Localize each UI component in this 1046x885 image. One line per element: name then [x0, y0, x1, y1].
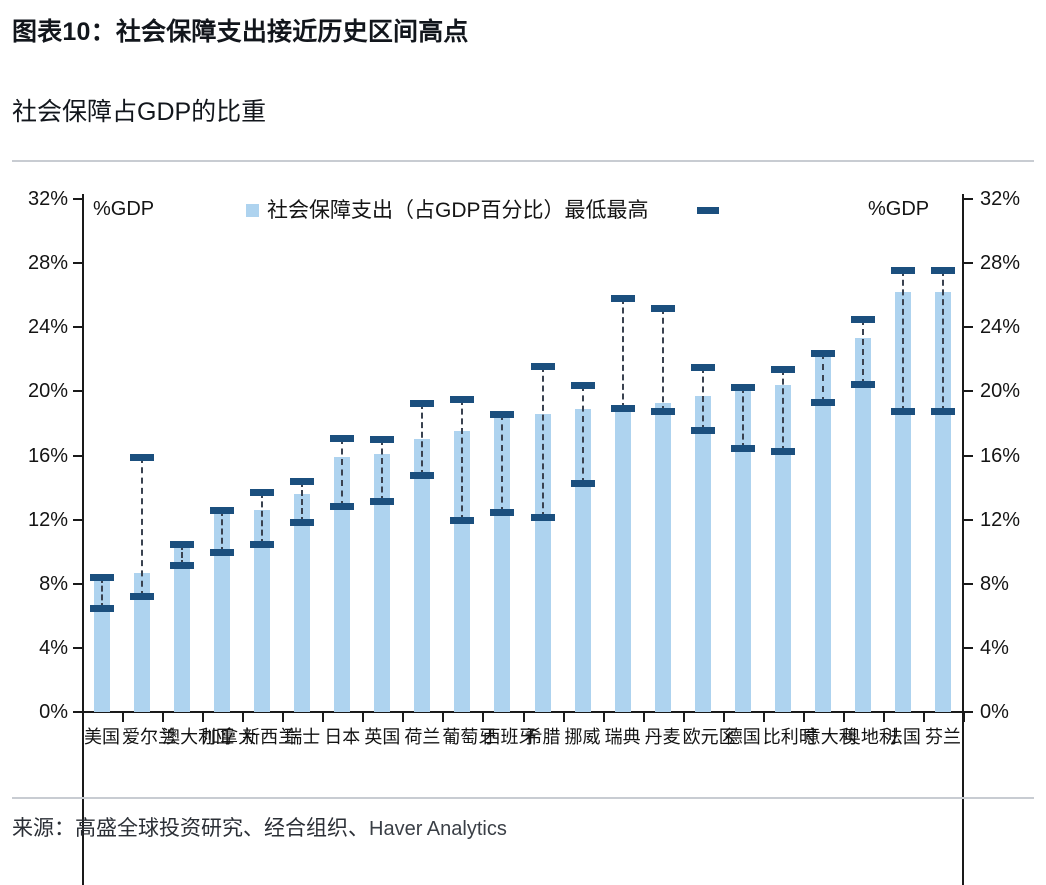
y-tick-l [73, 583, 82, 585]
range-cap-max [290, 478, 314, 485]
range-connector [582, 385, 584, 484]
y-axis-label-r: 20% [980, 381, 1046, 401]
y-axis-label-r: 32% [980, 189, 1046, 209]
range-cap-max [891, 267, 915, 274]
range-cap-max [250, 489, 274, 496]
range-connector [782, 369, 784, 452]
y-tick-l [73, 198, 82, 200]
x-axis-labels: 美国爱尔兰澳大利亚加拿大新西兰瑞士日本英国荷兰葡萄牙西班牙希腊挪威瑞典丹麦欧元区… [82, 728, 964, 758]
y-tick-r [964, 519, 973, 521]
range-connector [221, 510, 223, 553]
source-note: 来源：高盛全球投资研究、经合组织、Haver Analytics [12, 812, 1022, 842]
x-axis-label: 瑞典 [603, 728, 643, 746]
y-tick-r [964, 198, 973, 200]
exhibit-label: 图表10： [12, 18, 116, 46]
range-cap-max [851, 316, 875, 323]
x-axis-label: 荷兰 [402, 728, 442, 746]
x-axis-label: 葡萄牙 [442, 728, 482, 746]
x-tick [643, 713, 645, 722]
y-tick-l [73, 519, 82, 521]
source-provider: Haver Analytics [369, 818, 507, 840]
y-axis-label-r: 24% [980, 317, 1046, 337]
range-marker [341, 438, 343, 507]
x-tick [563, 713, 565, 722]
range-cap-max [410, 400, 434, 407]
y-axis-label-l: 28% [8, 253, 68, 273]
y-axis-label-l: 16% [8, 446, 68, 466]
range-connector [822, 353, 824, 403]
x-axis-label: 欧元区 [683, 728, 723, 746]
x-axis-label: 瑞士 [282, 728, 322, 746]
y-tick-r [964, 711, 973, 713]
range-cap-min [250, 541, 274, 548]
range-cap-max [90, 574, 114, 581]
range-marker [942, 270, 944, 413]
x-tick [162, 713, 164, 722]
range-cap-min [571, 480, 595, 487]
x-axis-label: 希腊 [523, 728, 563, 746]
range-connector [622, 298, 624, 409]
y-axis-label-l: 32% [8, 189, 68, 209]
range-marker [542, 366, 544, 518]
y-tick-r [964, 647, 973, 649]
range-cap-min [931, 408, 955, 415]
range-marker [822, 353, 824, 403]
y-axis-label-l: 0% [8, 702, 68, 722]
range-cap-max [170, 541, 194, 548]
x-axis-label: 德国 [723, 728, 763, 746]
range-cap-min [731, 445, 755, 452]
range-cap-max [731, 384, 755, 391]
range-marker [862, 319, 864, 385]
range-marker [101, 577, 103, 609]
range-connector [542, 366, 544, 518]
y-tick-l [73, 455, 82, 457]
range-marker [501, 414, 503, 513]
range-connector [261, 492, 263, 545]
range-cap-min [811, 399, 835, 406]
range-marker [181, 544, 183, 566]
divider-top [12, 160, 1034, 162]
range-cap-min [851, 381, 875, 388]
y-tick-r [964, 455, 973, 457]
x-tick [402, 713, 404, 722]
chart-canvas: %GDP %GDP 社会保障支出（占GDP百分比）最低最高 32%32%28%2… [0, 168, 1046, 778]
y-axis-label-r: 8% [980, 574, 1046, 594]
x-tick [683, 713, 685, 722]
source-organizations: 高盛全球投资研究、经合组织、 [75, 817, 369, 840]
y-tick-l [73, 326, 82, 328]
range-marker [301, 481, 303, 523]
y-axis-label-l: 24% [8, 317, 68, 337]
y-tick-l [73, 647, 82, 649]
range-cap-max [931, 267, 955, 274]
range-cap-min [130, 593, 154, 600]
range-marker [742, 387, 744, 450]
x-tick [442, 713, 444, 722]
range-cap-max [531, 363, 555, 370]
x-axis-label: 法国 [883, 728, 923, 746]
range-marker [381, 439, 383, 502]
x-tick [482, 713, 484, 722]
range-cap-max [130, 454, 154, 461]
x-tick [723, 713, 725, 722]
range-connector [421, 403, 423, 477]
range-cap-min [90, 605, 114, 612]
y-axis-label-l: 20% [8, 381, 68, 401]
x-tick [202, 713, 204, 722]
plot-area [82, 199, 963, 712]
y-axis-label-r: 4% [980, 638, 1046, 658]
y-tick-l [73, 711, 82, 713]
range-connector [662, 308, 664, 412]
x-axis-label: 西班牙 [482, 728, 522, 746]
x-tick [803, 713, 805, 722]
range-cap-min [891, 408, 915, 415]
divider-bottom [12, 797, 1034, 799]
source-prefix: 来源： [12, 817, 75, 840]
y-tick-r [964, 326, 973, 328]
range-cap-max [611, 295, 635, 302]
range-connector [461, 399, 463, 521]
range-connector [742, 387, 744, 450]
range-marker [141, 457, 143, 596]
x-axis-label: 奥地利 [843, 728, 883, 746]
range-cap-min [450, 517, 474, 524]
x-tick [763, 713, 765, 722]
exhibit-title-text: 社会保障支出接近历史区间高点 [116, 18, 469, 46]
range-marker [421, 403, 423, 477]
range-marker [261, 492, 263, 545]
y-axis-label-l: 8% [8, 574, 68, 594]
x-tick [242, 713, 244, 722]
range-marker [662, 308, 664, 412]
y-tick-r [964, 390, 973, 392]
y-axis-label-l: 12% [8, 510, 68, 530]
range-connector [381, 439, 383, 502]
y-axis-label-r: 12% [980, 510, 1046, 530]
range-cap-max [370, 436, 394, 443]
y-axis-label-l: 4% [8, 638, 68, 658]
range-cap-max [571, 382, 595, 389]
x-axis-label: 比利时 [763, 728, 803, 746]
x-tick [122, 713, 124, 722]
x-tick [843, 713, 845, 722]
page-title: 图表10：社会保障支出接近历史区间高点 [12, 12, 1022, 48]
range-cap-min [691, 427, 715, 434]
range-series [82, 199, 963, 712]
y-tick-r [964, 262, 973, 264]
range-marker [902, 270, 904, 413]
x-axis-label: 挪威 [563, 728, 603, 746]
range-cap-max [771, 366, 795, 373]
range-cap-min [771, 448, 795, 455]
y-tick-l [73, 262, 82, 264]
x-axis-label: 美国 [82, 728, 122, 746]
x-axis-label: 芬兰 [923, 728, 963, 746]
x-tick [603, 713, 605, 722]
x-tick [883, 713, 885, 722]
range-cap-min [370, 498, 394, 505]
range-marker [622, 298, 624, 409]
range-connector [902, 270, 904, 413]
x-axis-label: 爱尔兰 [122, 728, 162, 746]
range-cap-min [210, 549, 234, 556]
x-axis-label: 丹麦 [643, 728, 683, 746]
range-cap-max [450, 396, 474, 403]
range-cap-min [330, 503, 354, 510]
y-axis-label-r: 16% [980, 446, 1046, 466]
range-cap-max [811, 350, 835, 357]
range-cap-min [170, 562, 194, 569]
x-axis-label: 新西兰 [242, 728, 282, 746]
range-marker [221, 510, 223, 553]
range-connector [942, 270, 944, 413]
x-tick [282, 713, 284, 722]
range-cap-max [651, 305, 675, 312]
x-tick [362, 713, 364, 722]
x-tick [82, 713, 84, 722]
y-tick-r [964, 583, 973, 585]
range-cap-max [210, 507, 234, 514]
range-cap-max [330, 435, 354, 442]
y-tick-l [73, 390, 82, 392]
chart-subtitle: 社会保障占GDP的比重 [12, 92, 1022, 128]
y-axis-label-r: 0% [980, 702, 1046, 722]
y-axis-label-r: 28% [980, 253, 1046, 273]
x-axis-label: 澳大利亚 [162, 728, 202, 746]
x-axis-label: 意大利 [803, 728, 843, 746]
x-tick [923, 713, 925, 722]
range-marker [582, 385, 584, 484]
range-cap-min [290, 519, 314, 526]
x-axis-label: 日本 [322, 728, 362, 746]
range-cap-min [611, 405, 635, 412]
range-connector [862, 319, 864, 385]
range-connector [141, 457, 143, 596]
x-tick [322, 713, 324, 722]
range-cap-max [490, 411, 514, 418]
range-cap-min [410, 472, 434, 479]
range-connector [341, 438, 343, 507]
x-tick [523, 713, 525, 722]
range-cap-max [691, 364, 715, 371]
range-cap-min [651, 408, 675, 415]
range-connector [501, 414, 503, 513]
x-axis-label: 加拿大 [202, 728, 242, 746]
range-connector [301, 481, 303, 523]
range-marker [782, 369, 784, 452]
range-connector [702, 367, 704, 431]
x-tick [963, 713, 965, 722]
range-cap-min [531, 514, 555, 521]
range-cap-min [490, 509, 514, 516]
x-axis-label: 英国 [362, 728, 402, 746]
range-marker [461, 399, 463, 521]
range-marker [702, 367, 704, 431]
